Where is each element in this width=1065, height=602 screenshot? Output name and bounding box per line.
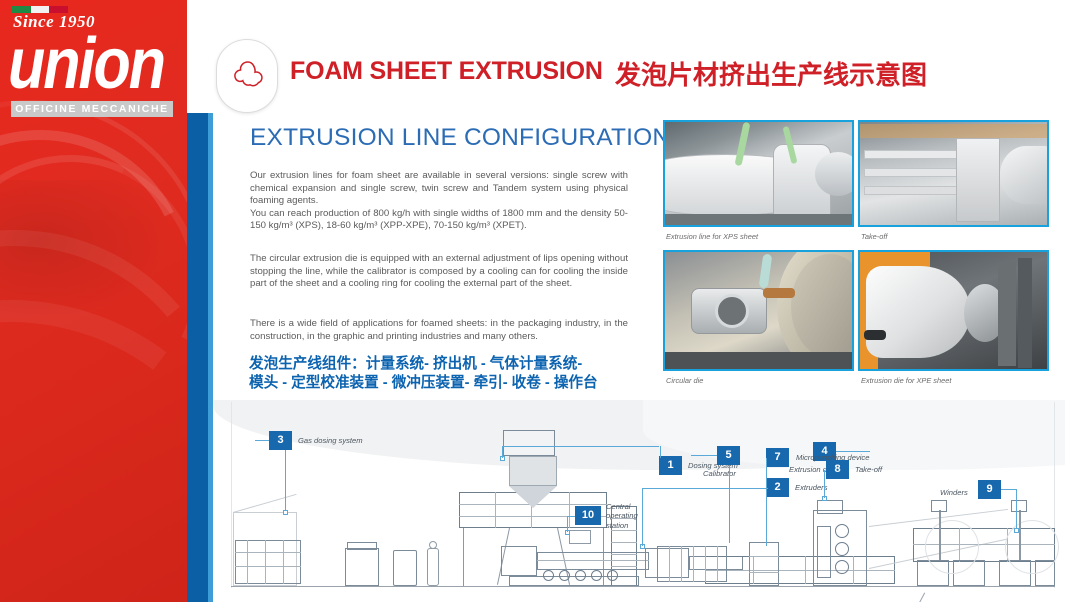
- take-off-head: [817, 500, 843, 514]
- body-paragraph-3: There is a wide field of applications fo…: [250, 318, 628, 343]
- take-off-panel: [817, 526, 831, 578]
- operator-figure: [427, 548, 439, 586]
- gas-dosing-rack: [235, 540, 301, 584]
- operating-console: [569, 530, 591, 544]
- callout-badge-10: 10: [575, 506, 601, 525]
- callout-label-10: Centraloperatingstation: [606, 502, 638, 530]
- diagram-left-edge: [231, 402, 232, 588]
- section-title: EXTRUSION LINE CONFIGURATION: [250, 124, 670, 152]
- callout-badge-3: 3: [269, 431, 292, 450]
- hopper-cone: [509, 486, 557, 508]
- callout-label-2: Extruders: [795, 483, 828, 492]
- foam-cloud-icon: [216, 39, 278, 113]
- winder-arm: [931, 500, 947, 512]
- aux-machine-top: [347, 542, 377, 550]
- callout-label-9: Winders: [940, 488, 968, 497]
- callout-badge-2: 2: [766, 478, 789, 497]
- body-paragraph-2: The circular extrusion die is equipped w…: [250, 253, 628, 291]
- dosing-unit: [503, 430, 555, 456]
- photo-circular-die: [663, 250, 854, 371]
- diagram-ground-line: [231, 586, 1055, 587]
- callout-label-5: Calibrator: [703, 469, 736, 478]
- callout-label-3: Gas dosing system: [298, 436, 363, 445]
- aux-stand: [393, 550, 417, 586]
- callout-badge-8: 8: [826, 460, 849, 479]
- blue-divider-bar: [187, 113, 208, 602]
- extruder-barrel: [537, 552, 649, 570]
- callout-label-8: Take-off: [855, 465, 882, 474]
- photo-caption-1: Extrusion line for XPS sheet: [666, 232, 758, 241]
- chinese-components-list: 发泡生产线组件：计量系统- 挤出机 - 气体计量系统- 模头 - 定型校准装置 …: [249, 355, 639, 393]
- left-brand-panel: Since 1950 union OFFICINE MECCANICHE: [0, 0, 187, 602]
- callout-badge-1: 1: [659, 456, 682, 475]
- photo-extrusion-line-xps: [663, 120, 854, 227]
- photo-take-off: [858, 120, 1049, 227]
- photo-caption-4: Extrusion die for XPE sheet: [861, 376, 951, 385]
- page-title-cn: 发泡片材挤出生产线示意图: [615, 55, 927, 92]
- winder-arm: [1011, 500, 1027, 512]
- union-logo: Since 1950 union OFFICINE MECCANICHE: [0, 0, 187, 120]
- brand-wordmark: union: [8, 28, 164, 100]
- slide-canvas: Since 1950 union OFFICINE MECCANICHE FOA…: [0, 0, 1065, 602]
- callout-badge-5: 5: [717, 446, 740, 465]
- callout-badge-9: 9: [978, 480, 1001, 499]
- callout-badge-7: 7: [766, 448, 789, 467]
- extrusion-line-diagram: 3 Gas dosing system 1 Dosing system 2 Ex…: [213, 400, 1065, 602]
- micropunching-device: [749, 542, 779, 586]
- chinese-line-1: 发泡生产线组件：计量系统- 挤出机 - 气体计量系统-: [249, 355, 639, 374]
- chinese-line-2: 模头 - 定型校准装置 - 微冲压装置- 牵引- 收卷 - 操作台: [249, 374, 639, 393]
- photo-caption-2: Take-off: [861, 232, 887, 241]
- extruder-drive: [501, 546, 537, 576]
- aux-machine: [345, 548, 379, 586]
- page-title-en: FOAM SHEET EXTRUSION: [290, 57, 603, 86]
- brand-tagline: OFFICINE MECCANICHE: [11, 101, 173, 117]
- photo-caption-3: Circular die: [666, 376, 703, 385]
- extruder-base: [509, 576, 639, 586]
- photo-extrusion-die-xpe: [858, 250, 1049, 371]
- brand-tagline-bar: OFFICINE MECCANICHE: [11, 101, 173, 117]
- operator-head: [429, 541, 437, 549]
- hopper: [509, 456, 557, 486]
- panel-shading: [0, 180, 187, 330]
- body-paragraph-1: Our extrusion lines for foam sheet are a…: [250, 170, 628, 233]
